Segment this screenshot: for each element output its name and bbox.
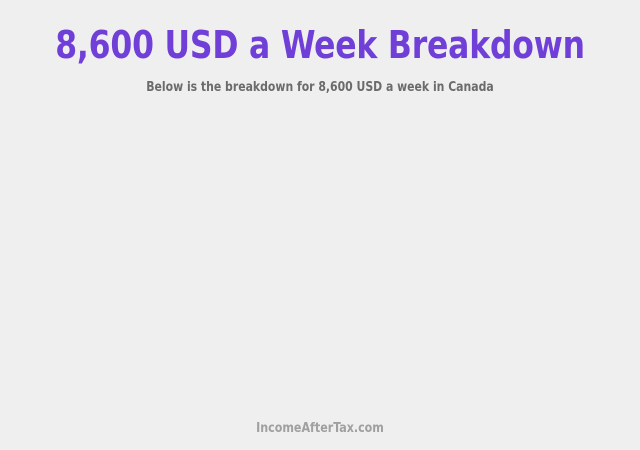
- page-header: 8,600 USD a Week Breakdown Below is the …: [0, 0, 640, 96]
- page-footer: IncomeAfterTax.com: [0, 421, 640, 437]
- footer-brand: IncomeAfterTax.com: [16, 421, 624, 437]
- breakdown-page: 8,600 USD a Week Breakdown Below is the …: [0, 0, 640, 450]
- page-subtitle: Below is the breakdown for 8,600 USD a w…: [22, 68, 617, 96]
- chart-region: [0, 118, 640, 410]
- page-title: 8,600 USD a Week Breakdown: [26, 0, 615, 68]
